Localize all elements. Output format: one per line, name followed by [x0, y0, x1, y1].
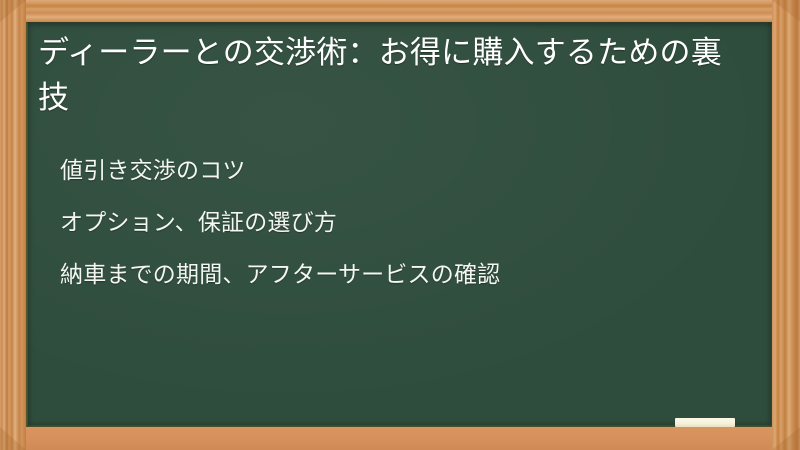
slide-title: ディーラーとの交渉術：お得に購入するための裏技: [38, 30, 728, 120]
list-item: オプション、保証の選び方: [60, 207, 748, 237]
frame-bottom-rail: [0, 427, 800, 450]
frame-corner-bottom-right: [772, 427, 800, 450]
frame-right-rail: [772, 0, 800, 450]
slide-bullet-list: 値引き交渉のコツ オプション、保証の選び方 納車までの期間、アフターサービスの確…: [60, 155, 748, 289]
frame-left-rail: [0, 0, 26, 450]
frame-corner-top-right: [772, 0, 800, 22]
slide-canvas: ディーラーとの交渉術：お得に購入するための裏技 値引き交渉のコツ オプション、保…: [0, 0, 800, 450]
frame-corner-bottom-left: [0, 427, 26, 450]
frame-top-rail: [0, 0, 800, 22]
list-item: 値引き交渉のコツ: [60, 155, 748, 185]
frame-corner-top-left: [0, 0, 26, 22]
chalkboard-surface: ディーラーとの交渉術：お得に購入するための裏技 値引き交渉のコツ オプション、保…: [26, 22, 772, 427]
list-item: 納車までの期間、アフターサービスの確認: [60, 259, 748, 289]
chalk-stick-icon: [675, 418, 735, 427]
